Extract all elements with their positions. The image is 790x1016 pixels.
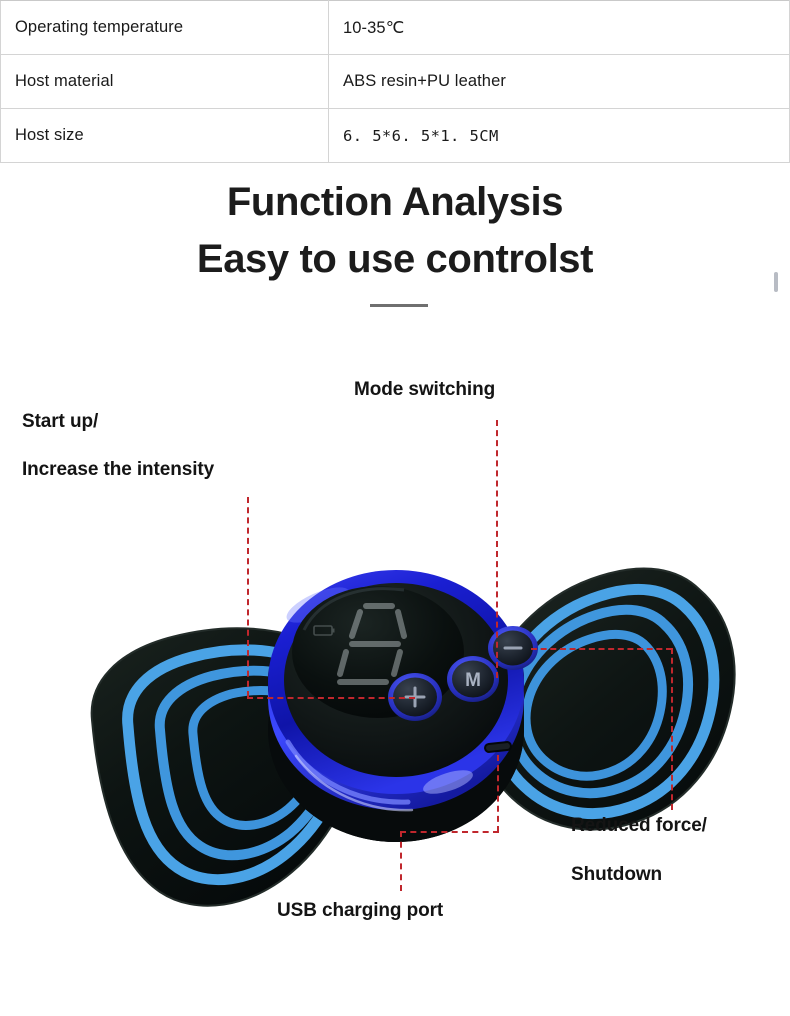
leader-line-startup-vertical [247,497,249,697]
callout-start-up: Start up/ [22,411,98,433]
heading-line-secondary: Easy to use controlst [0,231,790,288]
mode-glyph-icon: M [465,670,481,691]
heading-divider-rule [370,304,428,307]
spec-label-host-size: Host size [1,109,329,163]
table-row: Host material ABS resin+PU leather [1,55,790,109]
leader-line-usb-vertical-lower [400,831,402,891]
callout-increase-intensity: Increase the intensity [22,459,214,481]
mode-button[interactable]: M [447,656,499,702]
callout-reduced-force: Reduced force/ [571,815,707,837]
spec-label-host-material: Host material [1,55,329,109]
section-heading: Function Analysis Easy to use controlst [0,174,790,288]
callout-mode-switching: Mode switching [354,379,495,401]
spec-label-operating-temperature: Operating temperature [1,1,329,55]
table-row: Operating temperature 10-35℃ [1,1,790,55]
callout-shutdown: Shutdown [571,864,662,886]
scrollbar-thumb[interactable] [774,272,778,292]
leader-line-usb-vertical [497,755,499,832]
leader-line-reduced-vertical [671,648,673,810]
spec-value-host-material: ABS resin+PU leather [329,55,790,109]
table-row: Host size 6. 5*6. 5*1. 5CM [1,109,790,163]
leader-line-mode-switching [496,420,498,678]
heading-line-primary: Function Analysis [0,174,790,231]
spec-value-host-size: 6. 5*6. 5*1. 5CM [329,109,790,163]
leader-line-startup-horizontal [247,697,415,699]
leader-line-usb-horizontal [400,831,499,833]
product-infographic-page: Operating temperature 10-35℃ Host materi… [0,0,790,1016]
leader-line-reduced-horizontal [531,648,672,650]
spec-value-operating-temperature: 10-35℃ [329,1,790,55]
specification-table: Operating temperature 10-35℃ Host materi… [0,0,790,163]
callout-usb-charging-port: USB charging port [277,900,443,922]
